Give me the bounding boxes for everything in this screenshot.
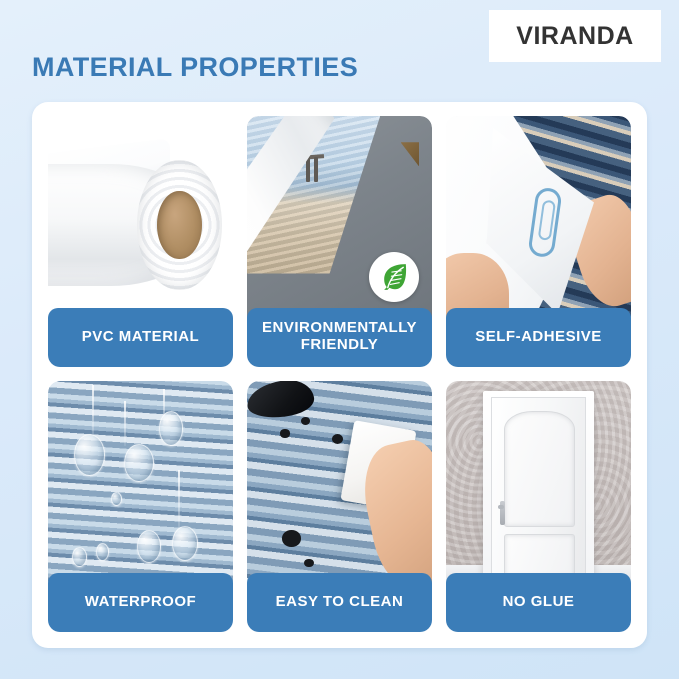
feature-cell-pvc-material[interactable]: PVC MATERIAL	[48, 116, 233, 367]
feature-cell-no-glue[interactable]: NO GLUE	[446, 381, 631, 632]
pier-post-shape	[314, 157, 318, 182]
water-drop-shape	[96, 543, 109, 561]
water-streak-shape	[92, 385, 94, 438]
brand-logo: VIRANDA	[489, 10, 661, 62]
easy-to-clean-art	[247, 381, 432, 583]
door-art	[446, 381, 631, 583]
feature-label-waterproof: WATERPROOF	[48, 573, 233, 632]
stain-spot-shape	[280, 429, 289, 437]
stain-spot-shape	[301, 417, 310, 425]
stain-spot-shape	[304, 559, 313, 567]
water-drop-shape	[159, 411, 183, 445]
door-handle-shape	[500, 501, 505, 525]
no-glue-image	[446, 381, 631, 583]
self-adhesive-image	[446, 116, 631, 318]
feature-cell-self-adhesive[interactable]: SELF-ADHESIVE	[446, 116, 631, 367]
feature-cell-easy-to-clean[interactable]: EASY TO CLEAN	[247, 381, 432, 632]
door-panel-bottom-shape	[504, 534, 575, 577]
peeling-wallpaper-art	[247, 116, 432, 318]
water-drop-shape	[124, 444, 154, 482]
door-leaf-shape	[491, 397, 586, 583]
feature-cell-waterproof[interactable]: WATERPROOF	[48, 381, 233, 632]
stain-smear-shape	[247, 381, 315, 421]
self-adhesive-art	[446, 116, 631, 318]
waterproof-image	[48, 381, 233, 583]
water-streak-shape	[178, 470, 180, 531]
water-drop-shape	[72, 547, 87, 567]
pvc-roll-art	[48, 116, 233, 318]
water-drop-shape	[172, 526, 198, 560]
door-frame-shape	[483, 391, 594, 583]
features-card: PVC MATERIAL	[32, 102, 647, 648]
features-grid: PVC MATERIAL	[48, 116, 631, 632]
leaf-icon	[369, 252, 419, 302]
page-title: MATERIAL PROPERTIES	[32, 52, 358, 83]
peeling-wallpaper-image	[247, 116, 432, 318]
stain-spot-shape	[282, 530, 301, 546]
feature-cell-environmentally-friendly[interactable]: ENVIRONMENTALLY FRIENDLY	[247, 116, 432, 367]
water-drop-shape	[74, 434, 106, 476]
sheet-corner-shape	[401, 142, 420, 166]
poster-page: VIRANDA MATERIAL PROPERTIES PVC MATERIAL	[0, 0, 679, 679]
feature-label-environmentally-friendly: ENVIRONMENTALLY FRIENDLY	[247, 308, 432, 367]
paperclip-icon	[527, 186, 563, 258]
feature-label-easy-to-clean: EASY TO CLEAN	[247, 573, 432, 632]
stain-spot-shape	[332, 434, 343, 444]
water-drop-shape	[137, 530, 161, 562]
pvc-roll-image	[48, 116, 233, 318]
feature-label-pvc-material: PVC MATERIAL	[48, 308, 233, 367]
water-drop-shape	[111, 492, 122, 506]
feature-label-no-glue: NO GLUE	[446, 573, 631, 632]
easy-to-clean-image	[247, 381, 432, 583]
door-panel-top-shape	[504, 411, 575, 527]
feature-label-self-adhesive: SELF-ADHESIVE	[446, 308, 631, 367]
water-streak-shape	[124, 401, 126, 445]
brand-logo-text: VIRANDA	[516, 22, 633, 51]
roll-core-shape	[157, 191, 201, 260]
waterproof-art	[48, 381, 233, 583]
